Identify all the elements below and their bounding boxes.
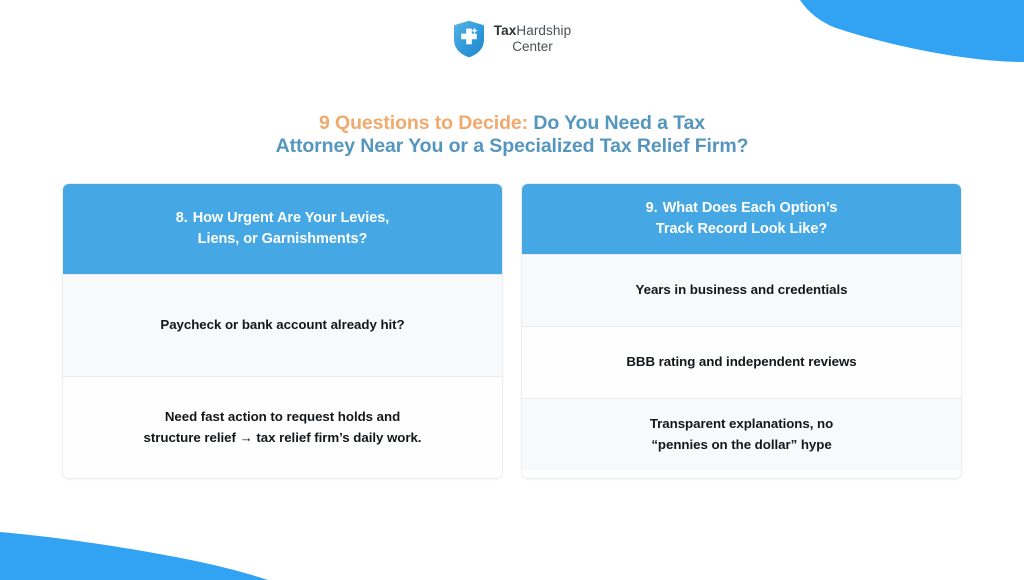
page-title-line1: Do You Need a Tax <box>528 112 705 134</box>
brand-name-bold: Tax <box>494 23 517 38</box>
shield-plus-icon <box>453 20 485 58</box>
question-card-9-header: 9.What Does Each Option’s Track Record L… <box>522 184 961 254</box>
question-card-8-title-line1: How Urgent Are Your Levies, <box>193 210 390 226</box>
page-title-accent: 9 Questions to Decide: <box>319 112 528 134</box>
question-card-9: 9.What Does Each Option’s Track Record L… <box>521 183 962 479</box>
question-card-8: 8.How Urgent Are Your Levies, Liens, or … <box>62 183 503 479</box>
question-card-8-row-2-line1: Need fast action to request holds and <box>165 409 400 424</box>
question-card-8-row-2-line2: structure relief → tax relief firm’s dai… <box>144 430 422 445</box>
question-card-9-row-1-line1: Years in business and credentials <box>636 282 848 297</box>
question-card-9-row-2: BBB rating and independent reviews <box>522 326 961 398</box>
question-card-8-title-line2: Liens, or Garnishments? <box>198 231 368 247</box>
question-cards-container: 8.How Urgent Are Your Levies, Liens, or … <box>62 183 962 479</box>
question-card-8-number: 8. <box>176 210 188 226</box>
brand-name-regular: Hardship <box>516 23 571 38</box>
question-card-9-row-1: Years in business and credentials <box>522 254 961 326</box>
brand-logo: TaxHardship Center <box>0 20 1024 58</box>
question-card-9-row-2-line1: BBB rating and independent reviews <box>626 354 856 369</box>
question-card-8-row-2: Need fast action to request holds and st… <box>63 376 502 478</box>
decorative-wave-bottom-left <box>0 518 300 580</box>
question-card-9-title-line2: Track Record Look Like? <box>656 221 827 237</box>
brand-name-second-line: Center <box>494 39 571 55</box>
question-card-9-number: 9. <box>646 200 658 216</box>
brand-name: TaxHardship Center <box>494 23 571 56</box>
question-card-8-row-1: Paycheck or bank account already hit? <box>63 274 502 376</box>
page-title-line2: Attorney Near You or a Specialized Tax R… <box>276 135 749 157</box>
question-card-8-header: 8.How Urgent Are Your Levies, Liens, or … <box>63 184 502 274</box>
page-title: 9 Questions to Decide: Do You Need a Tax… <box>0 112 1024 158</box>
question-card-9-title-line1: What Does Each Option’s <box>663 200 838 216</box>
question-card-9-row-3-line2: “pennies on the dollar” hype <box>651 437 831 452</box>
question-card-9-row-3-line1: Transparent explanations, no <box>650 416 833 431</box>
question-card-8-row-1-line1: Paycheck or bank account already hit? <box>160 317 404 332</box>
question-card-9-row-3: Transparent explanations, no “pennies on… <box>522 398 961 470</box>
